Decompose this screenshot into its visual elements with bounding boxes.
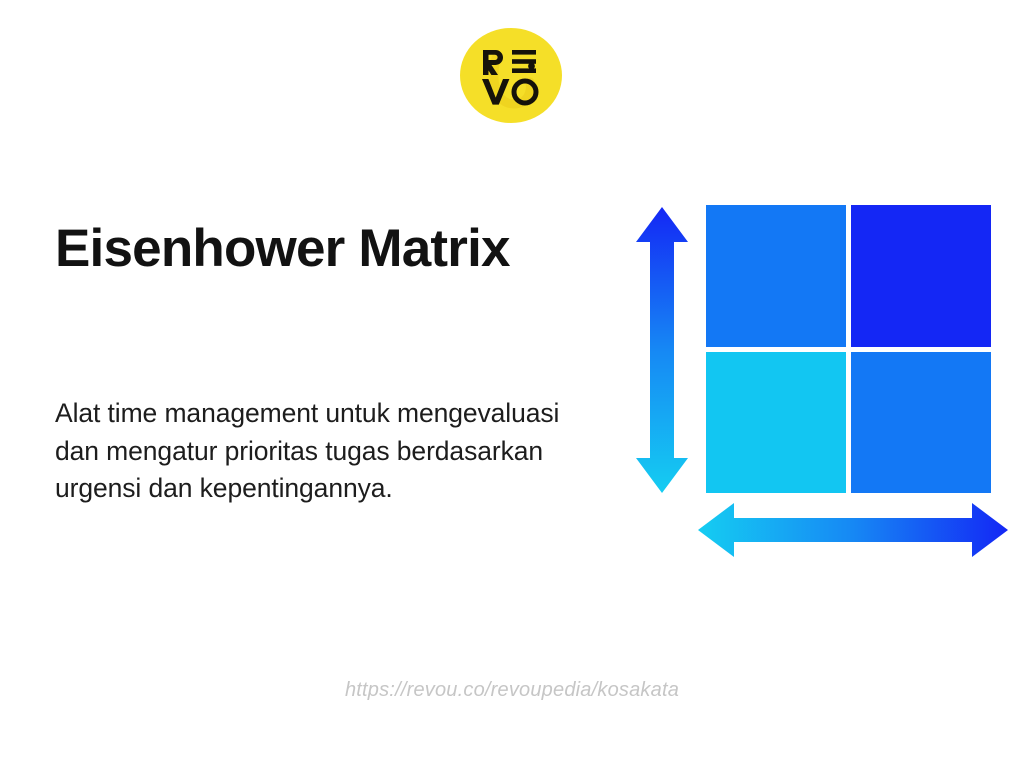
- page-title: Eisenhower Matrix: [55, 219, 615, 280]
- eisenhower-matrix-diagram: [620, 190, 1010, 570]
- logo-letters: [460, 28, 562, 123]
- quadrant-top-left[interactable]: [706, 205, 846, 347]
- quadrant-bottom-left[interactable]: [706, 352, 846, 494]
- revou-logo: [460, 28, 562, 123]
- horizontal-axis-arrow: [698, 503, 1008, 557]
- logo-letter-r: [483, 50, 503, 75]
- definition-paragraph: Alat time management untuk mengevaluasi …: [55, 395, 567, 508]
- slide-canvas: Eisenhower Matrix Alat time management u…: [0, 0, 1024, 768]
- matrix-quadrant-grid: [706, 205, 991, 493]
- vertical-axis-arrow: [636, 207, 688, 493]
- logo-letter-e: [512, 50, 536, 73]
- quadrant-bottom-right[interactable]: [851, 352, 991, 494]
- quadrant-top-right[interactable]: [851, 205, 991, 347]
- source-url[interactable]: https://revou.co/revoupedia/kosakata: [0, 679, 1024, 702]
